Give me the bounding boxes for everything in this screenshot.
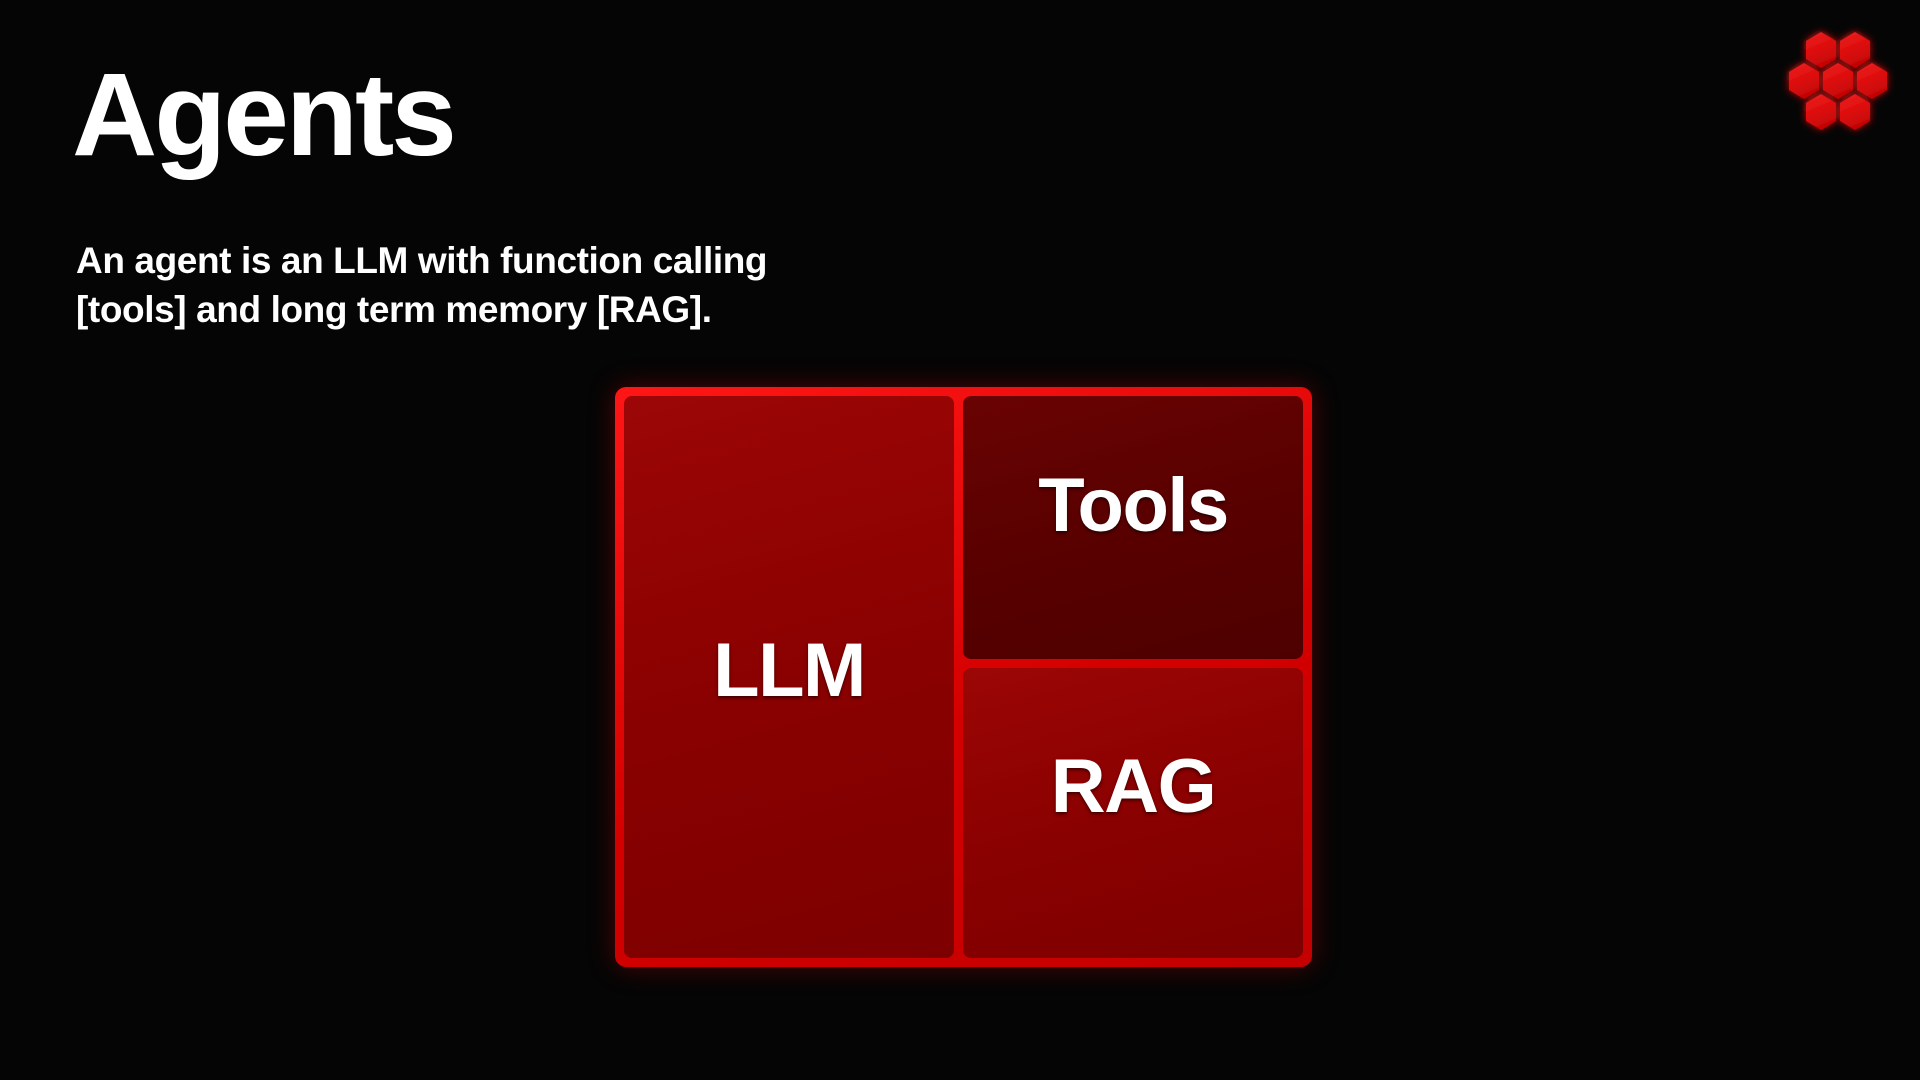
diagram-block-rag[interactable]: RAG [963,668,1303,958]
page-title: Agents [72,56,454,174]
agent-architecture-diagram: LLM Tools RAG [615,387,1312,967]
subtitle-line-2: [tools] and long term memory [RAG]. [76,285,767,334]
diagram-block-tools-label: Tools [1038,468,1228,544]
diagram-right-column: Tools RAG [963,396,1303,958]
subtitle-line-1: An agent is an LLM with function calling [76,236,767,285]
diagram-block-tools[interactable]: Tools [963,396,1303,659]
hex-mid-center [1823,63,1853,99]
diagram-left-column: LLM [624,396,954,958]
hex-top-right [1840,32,1870,68]
hex-bottom-right [1840,94,1870,130]
hexagon-honeycomb-logo [1778,22,1898,140]
hex-top-left [1806,32,1836,68]
hex-bottom-left [1806,94,1836,130]
hex-mid-left [1789,63,1819,99]
diagram-block-llm[interactable]: LLM [624,396,954,958]
subtitle-text: An agent is an LLM with function calling… [76,236,767,334]
diagram-block-rag-label: RAG [1051,749,1215,825]
slide-canvas: Agents An agent is an LLM with function … [0,0,1920,1080]
diagram-block-llm-label: LLM [713,633,865,709]
hex-mid-right [1857,63,1887,99]
